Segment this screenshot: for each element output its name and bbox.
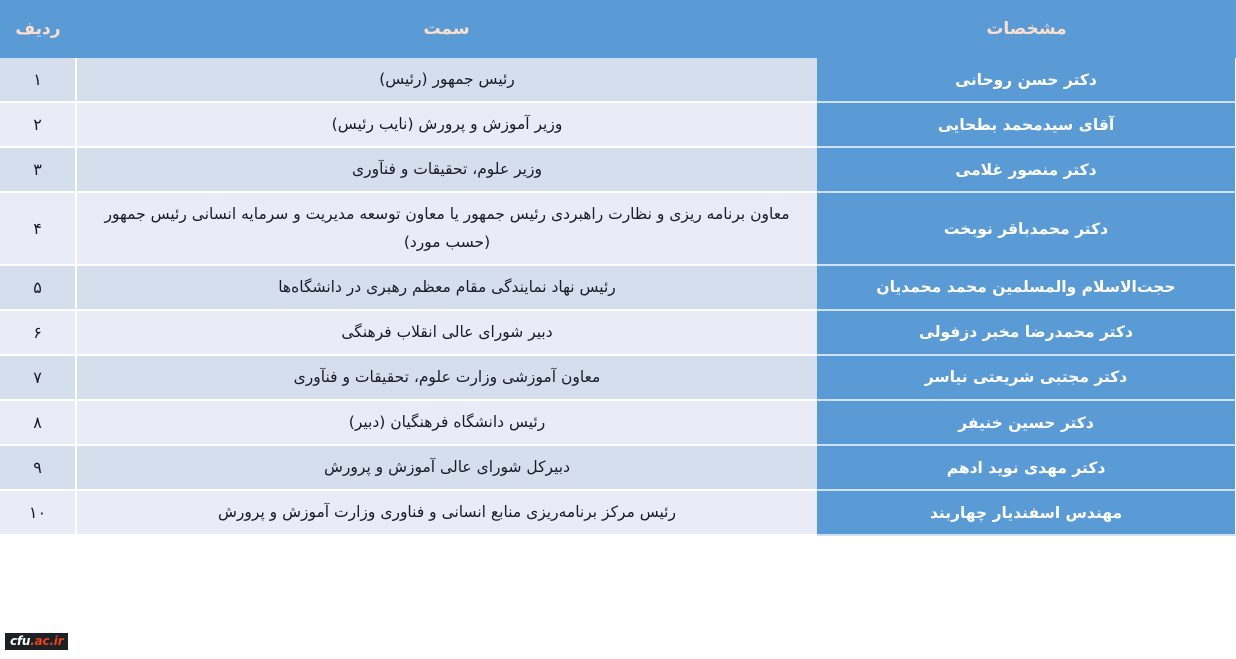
cell-position: وزیر آموزش و پرورش (نایب رئیس) [75,102,816,147]
cell-name: دکتر منصور غلامی [816,147,1235,192]
table-header: مشخصات سمت ردیف [0,0,1235,58]
table-row: دکتر مجتبی شریعتی نیاسر معاون آموزشی وزا… [0,355,1235,400]
cell-position: رئیس دانشگاه فرهنگیان (دبیر) [75,400,816,445]
cell-name: دکتر محمدباقر نوبخت [816,192,1235,264]
cell-row-number: ۹ [0,445,75,490]
cell-position: رئیس جمهور (رئیس) [75,58,816,102]
table-body: دکتر حسن روحانی رئیس جمهور (رئیس) ۱ آقای… [0,58,1235,535]
column-header-row-number: ردیف [0,0,75,58]
members-table: مشخصات سمت ردیف دکتر حسن روحانی رئیس جمه… [0,0,1236,536]
table-row: مهندس اسفندیار چهاربند رئیس مرکز برنامه‌… [0,490,1235,535]
table-row: آقای سیدمحمد بطحایی وزیر آموزش و پرورش (… [0,102,1235,147]
table-row: دکتر محمدباقر نوبخت معاون برنامه ریزی و … [0,192,1235,264]
cell-position: معاون برنامه ریزی و نظارت راهبردی رئیس ج… [75,192,816,264]
watermark-text-domain: .ac.ir [29,634,62,648]
site-watermark: cfu.ac.ir [4,633,67,650]
table-row: دکتر حسن روحانی رئیس جمهور (رئیس) ۱ [0,58,1235,102]
cell-position: دبیر شورای عالی انقلاب فرهنگی [75,310,816,355]
cell-name: حجت‌الاسلام والمسلمین محمد محمدیان [816,265,1235,310]
cell-name: دکتر مجتبی شریعتی نیاسر [816,355,1235,400]
cell-row-number: ۱۰ [0,490,75,535]
cell-row-number: ۴ [0,192,75,264]
cell-row-number: ۸ [0,400,75,445]
cell-row-number: ۵ [0,265,75,310]
cell-row-number: ۷ [0,355,75,400]
watermark-text-primary: cfu [9,634,29,648]
cell-position: رئیس نهاد نمایندگی مقام معظم رهبری در دا… [75,265,816,310]
cell-name: دکتر مهدی نوید ادهم [816,445,1235,490]
cell-position: دبیرکل شورای عالی آموزش و پرورش [75,445,816,490]
cell-name: دکتر محمدرضا مخبر دزفولی [816,310,1235,355]
table-header-row: مشخصات سمت ردیف [0,0,1235,58]
table-row: حجت‌الاسلام والمسلمین محمد محمدیان رئیس … [0,265,1235,310]
cell-row-number: ۱ [0,58,75,102]
table-row: دکتر مهدی نوید ادهم دبیرکل شورای عالی آم… [0,445,1235,490]
column-header-position: سمت [75,0,816,58]
cell-name: دکتر حسین خنیفر [816,400,1235,445]
table-row: دکتر حسین خنیفر رئیس دانشگاه فرهنگیان (د… [0,400,1235,445]
cell-row-number: ۳ [0,147,75,192]
cell-row-number: ۲ [0,102,75,147]
cell-position: وزیر علوم، تحقیقات و فنآوری [75,147,816,192]
table-row: دکتر محمدرضا مخبر دزفولی دبیر شورای عالی… [0,310,1235,355]
cell-position: رئیس مرکز برنامه‌ریزی منابع انسانی و فنا… [75,490,816,535]
cell-name: مهندس اسفندیار چهاربند [816,490,1235,535]
members-table-container: مشخصات سمت ردیف دکتر حسن روحانی رئیس جمه… [0,0,1236,659]
cell-name: آقای سیدمحمد بطحایی [816,102,1235,147]
cell-position: معاون آموزشی وزارت علوم، تحقیقات و فنآور… [75,355,816,400]
column-header-name: مشخصات [816,0,1235,58]
cell-name: دکتر حسن روحانی [816,58,1235,102]
cell-row-number: ۶ [0,310,75,355]
table-row: دکتر منصور غلامی وزیر علوم، تحقیقات و فن… [0,147,1235,192]
